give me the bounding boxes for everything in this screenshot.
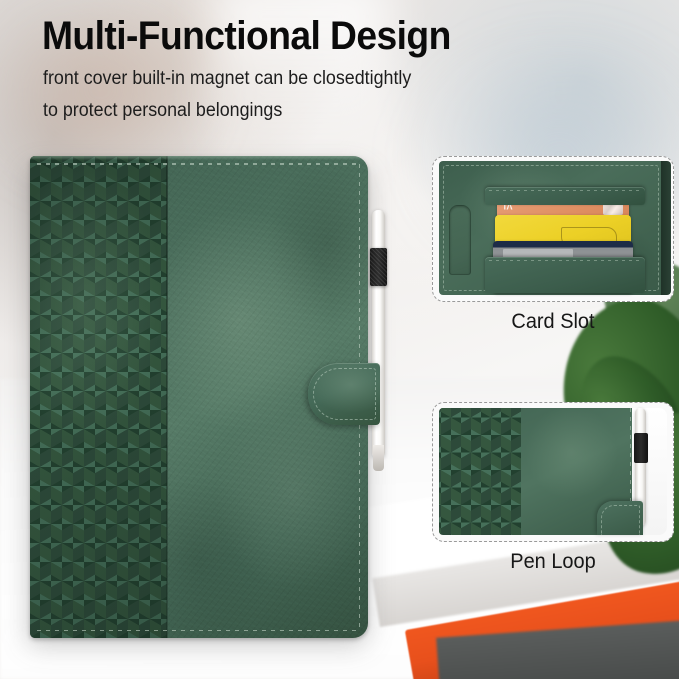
magnetic-clasp-flap	[308, 363, 380, 425]
pen-inset-clasp	[597, 501, 643, 535]
cube-pattern-panel	[30, 156, 167, 638]
pocket-stitching	[489, 260, 641, 261]
inset-label-card-slot: Card Slot	[438, 310, 668, 334]
inset-label-pen-loop: Pen Loop	[438, 550, 668, 574]
clasp-stitching	[313, 368, 376, 420]
case-top-edge	[30, 156, 368, 160]
pen-loop-band	[370, 248, 387, 286]
product-marketing-image: Multi-Functional Design front cover buil…	[0, 0, 679, 679]
pocket-stitching	[489, 190, 641, 191]
stitching-top	[37, 163, 359, 165]
pen-inset-loop-band	[634, 433, 648, 463]
panel-seam	[166, 156, 168, 638]
subtitle-line-2: to protect personal belongings	[43, 100, 282, 122]
vertical-pocket	[449, 205, 471, 275]
card-pocket-top	[485, 187, 645, 205]
card-pocket-front	[485, 257, 645, 293]
clasp-stitching	[601, 505, 640, 535]
case-spine	[661, 161, 671, 295]
inset-pen-loop	[432, 402, 674, 542]
subtitle-line-1: front cover built-in magnet can be close…	[43, 68, 411, 90]
pen-inset-cube-pattern	[439, 408, 521, 535]
stylus-tip	[373, 445, 384, 471]
page-title: Multi-Functional Design	[42, 14, 451, 59]
inset-card-slot: VI 8 7 8 9	[432, 156, 674, 302]
stitching-bottom	[37, 630, 359, 632]
